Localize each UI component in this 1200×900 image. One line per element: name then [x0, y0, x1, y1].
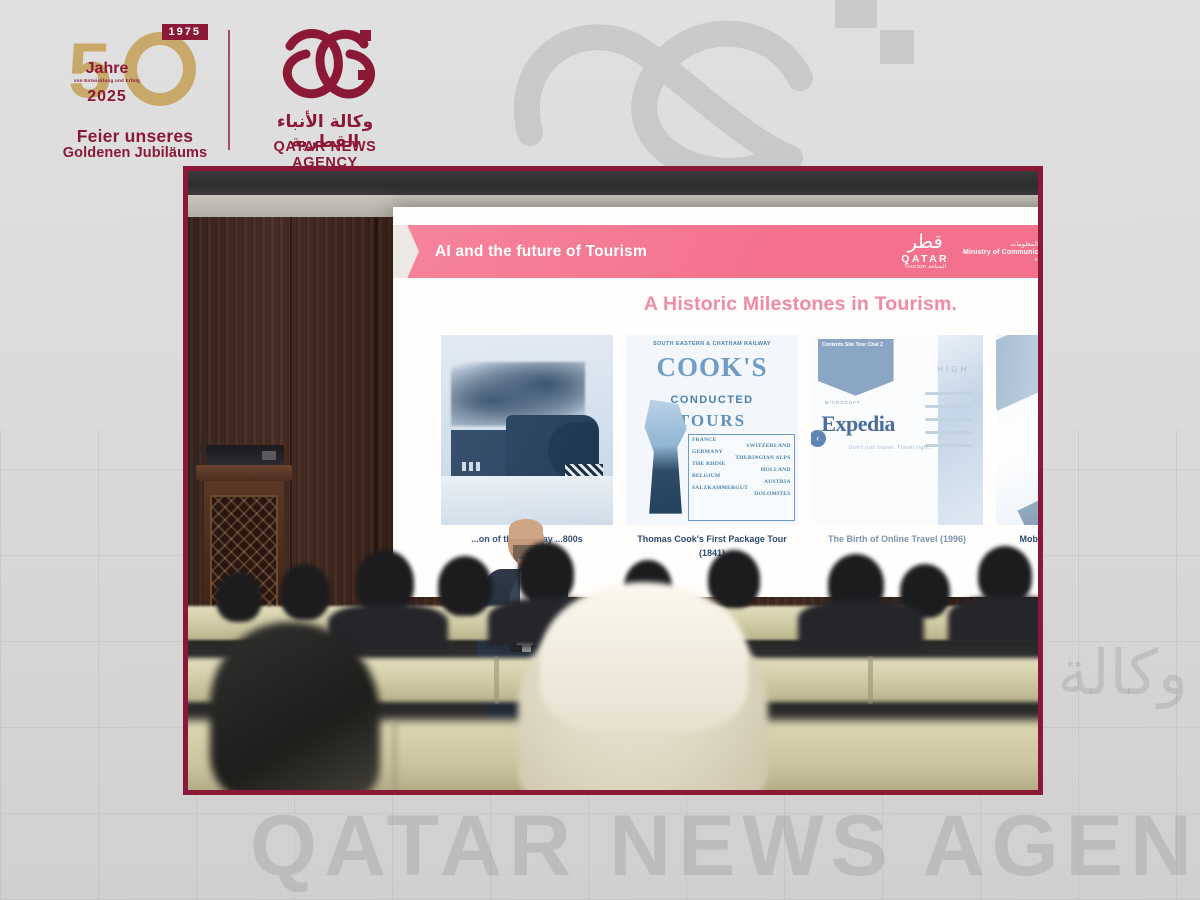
ministry-arabic: وزارة الاتصالات وتكنولوجيا المعلومات — [963, 241, 1038, 248]
expedia-side-label: HIGH — [937, 365, 969, 374]
jubilee-jahre-label: Jahre — [70, 60, 144, 78]
expedia-nav-box: Contents Site Tour Chat 2 — [818, 339, 894, 396]
cooks-title-one: COOK'S — [626, 352, 798, 383]
ceiling — [188, 171, 1038, 195]
qatar-news-agency-logo: وكالة الأنباء القطرية QATAR NEWS AGENCY — [250, 24, 400, 164]
ministry-logo: وزارة الاتصالات وتكنولوجيا المعلومات Min… — [963, 241, 1038, 262]
bottom-watermark-text: QATAR NEWS AGENCY — [250, 797, 1200, 896]
expedia-text-rows — [925, 392, 973, 457]
logo-divider — [228, 30, 230, 150]
arabic-watermark: وكالة — [1058, 636, 1188, 709]
ministry-state: State of Qatar دولة قطر — [963, 257, 1038, 262]
slide-header-bar: AI and the future of Tourism قطر QATAR T… — [393, 225, 1038, 278]
speaker-scalp — [509, 519, 543, 539]
panel-cooks-poster: SOUTH EASTERN & CHATHAM RAILWAY COOK'S C… — [626, 335, 798, 525]
jubilee-line-one: Feier unseres — [62, 126, 208, 147]
panel-expedia-screenshot: Contents Site Tour Chat 2 HIGH MICROSOFT… — [811, 335, 983, 525]
jubilee-end-year: 2025 — [70, 88, 144, 106]
foreground-attendee-headscarf — [540, 582, 748, 732]
qatar-tourism-sub: Tourism السياحة — [901, 265, 949, 271]
expedia-wordmark: Expedia — [821, 411, 895, 437]
podium-top — [196, 465, 292, 481]
qna-atom-icon — [272, 24, 384, 110]
slide-heading: A Historic Milestones in Tourism. — [393, 293, 1038, 316]
panel-steam-locomotive — [441, 335, 613, 525]
cooks-destination-list: FRANCE SWITZERLAND GERMANY THURINGIAN AL… — [688, 434, 795, 521]
chevron-left-icon: ‹ — [811, 430, 826, 447]
cooks-railway-line: SOUTH EASTERN & CHATHAM RAILWAY — [633, 341, 791, 347]
laptop-on-podium — [206, 445, 284, 467]
chevron-right-icon — [393, 225, 419, 278]
panel-mobile-social — [996, 335, 1038, 525]
brand-logo-bar: 5 1975 Jahre von Entwicklung und Erfolg … — [62, 22, 392, 162]
photo-frame: AI and the future of Tourism قطر QATAR T… — [183, 166, 1043, 795]
expedia-tagline: Don't just travel. Travel right. — [849, 445, 931, 451]
expedia-microsoft-label: MICROSOFT — [825, 400, 861, 405]
jubilee-micro-tagline: von Entwicklung und Erfolg — [64, 78, 150, 83]
audience — [188, 580, 1038, 790]
jubilee-start-year: 1975 — [162, 24, 208, 40]
jubilee-logo: 5 1975 Jahre von Entwicklung und Erfolg … — [62, 22, 208, 162]
milestone-panels: SOUTH EASTERN & CHATHAM RAILWAY COOK'S C… — [441, 335, 1038, 525]
jubilee-line-two: Goldenen Jubiläums — [62, 145, 208, 161]
qatar-tourism-arabic: قطر — [901, 233, 949, 252]
conference-photo: AI and the future of Tourism قطر QATAR T… — [188, 171, 1038, 790]
slide-title: AI and the future of Tourism — [435, 243, 647, 261]
ministry-english: Ministry of Communications and Informati… — [963, 249, 1038, 257]
qatar-tourism-logo: قطر QATAR Tourism السياحة — [901, 233, 949, 271]
slide-logos: قطر QATAR Tourism السياحة وزارة الاتصالا… — [901, 233, 1038, 271]
qatar-tourism-name: QATAR — [901, 254, 949, 265]
